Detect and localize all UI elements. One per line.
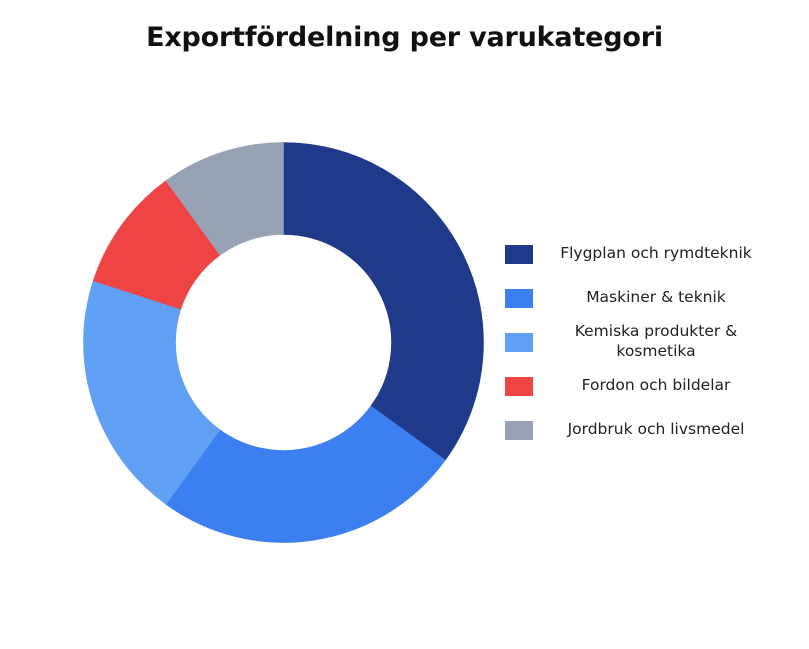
chart-legend: Flygplan och rymdteknikMaskiner & teknik… (505, 232, 765, 452)
legend-color-swatch (505, 377, 533, 396)
legend-item[interactable]: Flygplan och rymdteknik (505, 232, 765, 276)
legend-color-swatch (505, 245, 533, 264)
legend-item[interactable]: Jordbruk och livsmedel (505, 408, 765, 452)
legend-color-swatch (505, 421, 533, 440)
legend-item-label: Fordon och bildelar (547, 376, 765, 396)
legend-color-swatch (505, 289, 533, 308)
donut-slice[interactable] (284, 143, 484, 461)
donut-chart (83, 142, 484, 543)
chart-title: Exportfördelning per varukategori (0, 22, 809, 53)
legend-item[interactable]: Kemiska produkter & kosmetika (505, 320, 765, 364)
legend-item-label: Maskiner & teknik (547, 288, 765, 308)
legend-item-label: Flygplan och rymdteknik (547, 244, 765, 264)
legend-item[interactable]: Fordon och bildelar (505, 364, 765, 408)
legend-item-label: Jordbruk och livsmedel (547, 420, 765, 440)
donut-slice-group (84, 143, 484, 543)
legend-color-swatch (505, 333, 533, 352)
chart-figure: Exportfördelning per varukategori Flygpl… (0, 0, 809, 649)
donut-chart-svg (83, 142, 484, 543)
legend-item[interactable]: Maskiner & teknik (505, 276, 765, 320)
legend-item-label: Kemiska produkter & kosmetika (547, 322, 765, 362)
